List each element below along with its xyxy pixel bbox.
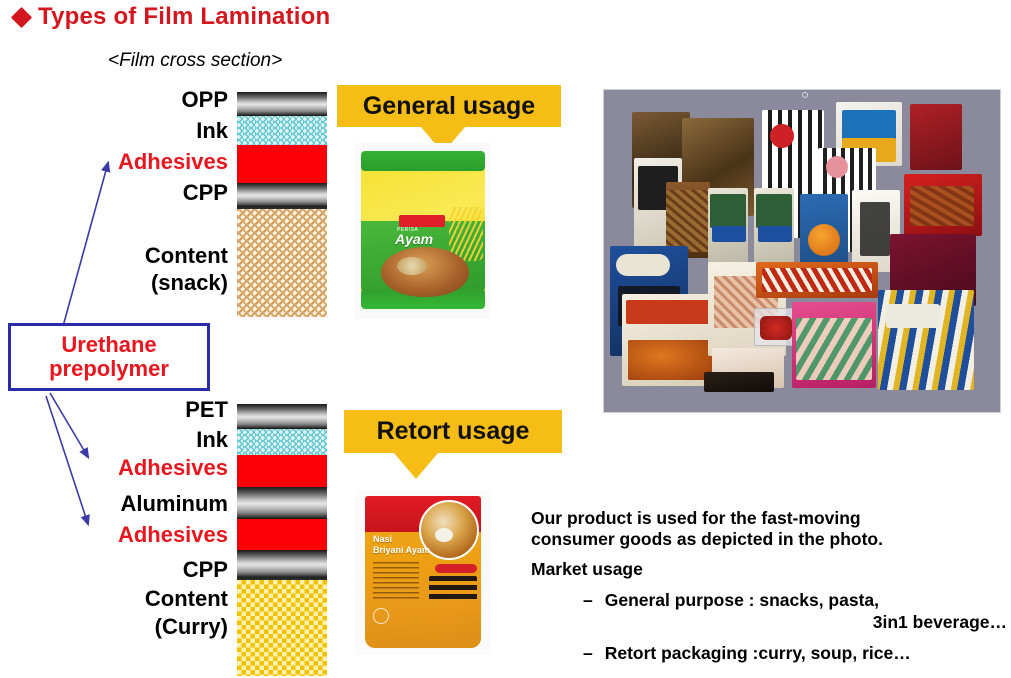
layer-band-pet: [237, 404, 327, 429]
collage-package: [826, 156, 848, 178]
callout-general-usage-label: General usage: [363, 92, 535, 121]
layer-label-adhesives-top: Adhesives: [88, 151, 228, 173]
layer-label-content-curry: Content: [100, 588, 228, 610]
retort-pouch-title-line2: Briyani Ayam: [373, 545, 430, 556]
noodle-packet-top-seal: [361, 151, 485, 171]
usage-item-general-text: General purpose : snacks, pasta,: [605, 590, 879, 611]
usage-item-general-continuation: 3in1 beverage…: [531, 612, 1009, 633]
layer-label-ink-bottom: Ink: [108, 429, 228, 451]
product-collage-photo: [603, 89, 1001, 413]
layer-band-opp: [237, 92, 327, 116]
callout-retort-usage-label: Retort usage: [377, 417, 530, 446]
collage-package: [770, 124, 794, 148]
layer-band-adhesives-top: [237, 145, 327, 183]
layer-label-cpp-bottom: CPP: [108, 559, 228, 581]
callout-general-usage-body: General usage: [337, 85, 561, 127]
usage-list-item-retort: – Retort packaging :curry, soup, rice…: [531, 643, 1009, 664]
collage-package: [760, 316, 792, 340]
collage-package: [808, 224, 840, 256]
collage-package: [704, 372, 774, 392]
collage-package: [616, 254, 670, 276]
photo-top-dot: [802, 92, 808, 98]
retort-pouch-halal-mark: [373, 608, 389, 624]
retort-pouch-feature-bars: [429, 576, 477, 602]
callout-retort-usage-body: Retort usage: [344, 410, 562, 453]
usage-list-item-general: – General purpose : snacks, pasta,: [531, 590, 1009, 611]
layer-band-content-snack: [237, 207, 327, 317]
retort-pouch-description-text: [373, 562, 419, 600]
urethane-line2: prepolymer: [49, 357, 169, 381]
collage-package: [910, 186, 974, 226]
collage-package: [860, 202, 890, 256]
layer-label-ink-top: Ink: [108, 120, 228, 142]
retort-pouch-title-line1: Nasi: [373, 534, 430, 545]
noodle-packet-bowl-art: [381, 247, 469, 297]
layer-label-pet: PET: [108, 399, 228, 421]
collage-package: [910, 104, 962, 170]
layer-label-content-snack-sub: (snack): [100, 272, 228, 294]
usage-lead-line2: consumer goods as depicted in the photo.: [531, 529, 1009, 550]
cross-section-caption: <Film cross section>: [108, 50, 282, 72]
layer-band-aluminum: [237, 487, 327, 519]
callout-retort-usage: Retort usage: [344, 410, 562, 479]
layer-band-cpp-top: [237, 183, 327, 207]
usage-lead-line1: Our product is used for the fast-moving: [531, 508, 1009, 529]
retort-pouch-title: Nasi Briyani Ayam: [373, 534, 430, 557]
layer-band-content-curry: [237, 578, 327, 676]
callout-retort-usage-tail: [394, 453, 438, 479]
product-image-retort-pouch: Nasi Briyani Ayam: [355, 490, 491, 655]
layer-label-opp: OPP: [108, 89, 228, 111]
collage-package: [712, 226, 746, 242]
collage-package: [762, 268, 872, 292]
urethane-line1: Urethane: [61, 333, 156, 357]
usage-dash-icon: –: [583, 590, 593, 611]
collage-package: [626, 300, 714, 324]
usage-dash-icon: –: [583, 643, 593, 664]
layer-band-cpp-bottom: [237, 550, 327, 578]
collage-package: [710, 194, 746, 228]
product-image-noodle-packet: PERISA Ayam: [355, 143, 491, 319]
retort-pouch-badge: [435, 564, 477, 573]
layer-label-adhesives-upper: Adhesives: [88, 457, 228, 479]
usage-item-retort-text: Retort packaging :curry, soup, rice…: [605, 643, 911, 664]
page-title: Types of Film Lamination: [14, 3, 330, 31]
layer-label-cpp-top: CPP: [108, 182, 228, 204]
collage-package: [842, 110, 896, 140]
collage-package: [756, 194, 792, 228]
layer-label-content-curry-sub: (Curry): [100, 616, 228, 638]
page-title-text: Types of Film Lamination: [38, 3, 330, 31]
layer-label-adhesives-lower: Adhesives: [88, 524, 228, 546]
collage-package: [796, 318, 872, 380]
layer-band-adhesives-lower: [237, 519, 327, 550]
collage-package: [628, 340, 712, 380]
collage-package: [666, 190, 710, 252]
collage-package: [886, 304, 940, 328]
collage-package: [758, 226, 792, 242]
noodle-packet-brand-name: Ayam: [395, 231, 433, 247]
layer-band-ink-top: [237, 116, 327, 146]
layer-band-adhesives-upper: [237, 455, 327, 487]
urethane-prepolymer-box: Urethane prepolymer: [8, 323, 210, 391]
usage-market-heading: Market usage: [531, 559, 1009, 580]
layer-label-content-snack: Content: [100, 245, 228, 267]
usage-description-block: Our product is used for the fast-moving …: [531, 508, 1009, 664]
layer-label-aluminum: Aluminum: [78, 493, 228, 515]
diamond-bullet-icon: [11, 6, 32, 27]
layer-band-ink-bottom: [237, 429, 327, 456]
noodle-packet-brand-logo: [399, 215, 445, 227]
